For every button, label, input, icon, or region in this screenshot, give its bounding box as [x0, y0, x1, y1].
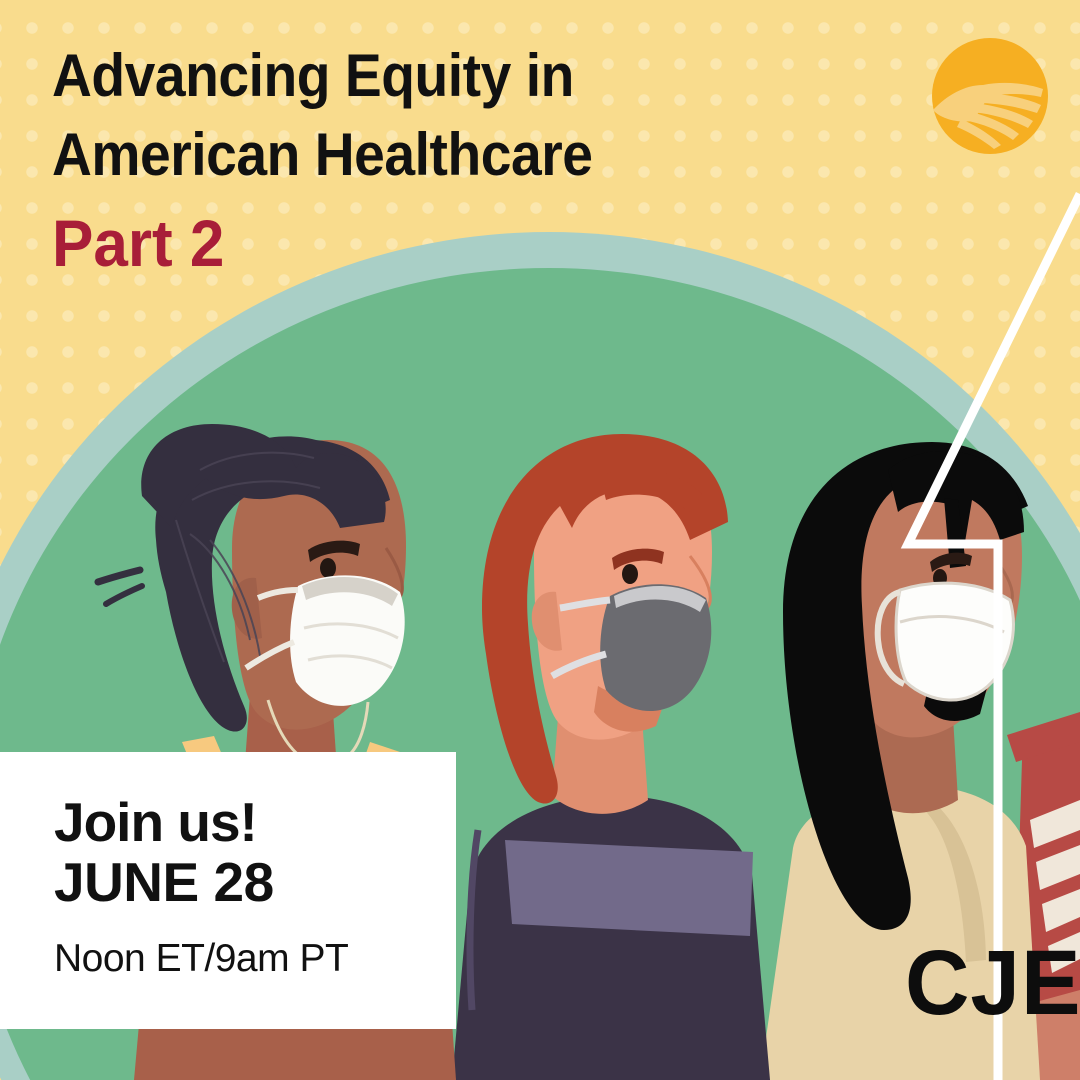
callout-date-text: JUNE 28 [54, 851, 456, 914]
cje-wordmark: CJE [905, 937, 1080, 1029]
figure-man-red-hair [452, 434, 770, 1080]
headline-line-2: American Healthcare [52, 115, 696, 194]
poster-canvas: Advancing Equity in American Healthcare … [0, 0, 1080, 1080]
callout-time-text: Noon ET/9am PT [54, 936, 456, 982]
headline-part-label: Part 2 [52, 200, 710, 286]
handshake-icon [929, 35, 1051, 157]
headline-line-1: Advancing Equity in [52, 36, 696, 115]
callout-join-text: Join us! [54, 794, 456, 851]
headline-block: Advancing Equity in American Healthcare … [52, 36, 752, 286]
event-callout-box: Join us! JUNE 28 Noon ET/9am PT [0, 752, 456, 1029]
